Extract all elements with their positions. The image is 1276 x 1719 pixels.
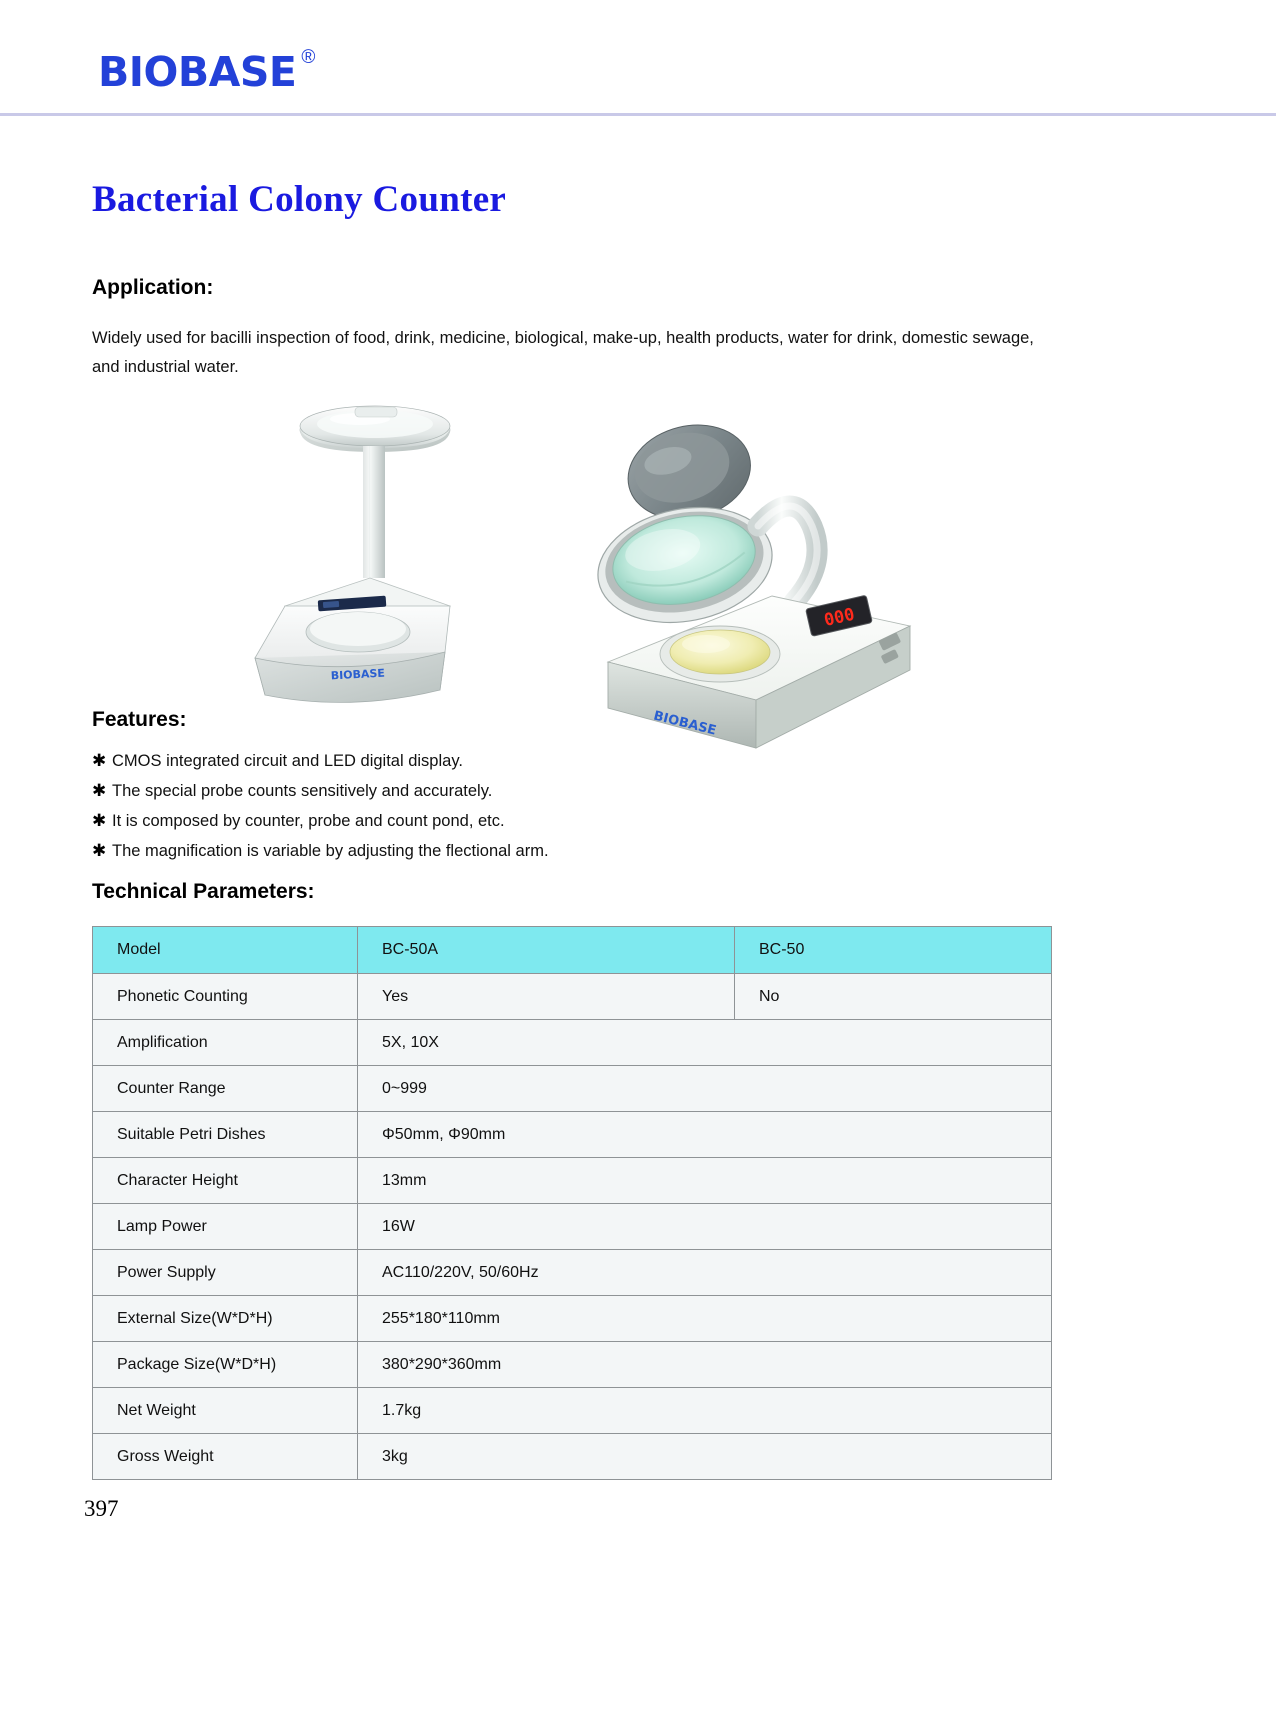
list-item: ✱ CMOS integrated circuit and LED digita… bbox=[92, 752, 792, 782]
row-label: Suitable Petri Dishes bbox=[93, 1112, 358, 1158]
feature-text: It is composed by counter, probe and cou… bbox=[112, 812, 505, 831]
product-photo-right: 000 BIOBASE bbox=[588, 412, 910, 748]
table-header-cell-model: Model bbox=[93, 927, 358, 974]
row-value: 3kg bbox=[358, 1434, 1052, 1480]
asterisk-bullet-icon: ✱ bbox=[92, 752, 112, 769]
asterisk-bullet-icon: ✱ bbox=[92, 842, 112, 859]
section-heading-technical: Technical Parameters: bbox=[92, 880, 315, 904]
logo-wordmark: BIOBASE bbox=[98, 52, 296, 93]
row-label: Package Size(W*D*H) bbox=[93, 1342, 358, 1388]
row-label: Lamp Power bbox=[93, 1204, 358, 1250]
table-row: Lamp Power 16W bbox=[93, 1204, 1052, 1250]
section-heading-application: Application: bbox=[92, 276, 213, 300]
product-photo-left: BIOBASE bbox=[255, 406, 450, 702]
row-label: Gross Weight bbox=[93, 1434, 358, 1480]
table-header-cell-bc50a: BC-50A bbox=[358, 927, 735, 974]
table-row: Phonetic Counting Yes No bbox=[93, 974, 1052, 1020]
page-number: 397 bbox=[84, 1496, 119, 1522]
row-value-bc50a: Yes bbox=[358, 974, 735, 1020]
table-header-row: Model BC-50A BC-50 bbox=[93, 927, 1052, 974]
row-label: Net Weight bbox=[93, 1388, 358, 1434]
page-title: Bacterial Colony Counter bbox=[92, 178, 506, 221]
product-photo-group: BIOBASE bbox=[250, 400, 950, 780]
row-label: Phonetic Counting bbox=[93, 974, 358, 1020]
row-value: 5X, 10X bbox=[358, 1020, 1052, 1066]
page-header: BIOBASE ® bbox=[0, 0, 1276, 118]
row-value: Φ50mm, Φ90mm bbox=[358, 1112, 1052, 1158]
table-row: Package Size(W*D*H) 380*290*360mm bbox=[93, 1342, 1052, 1388]
table-row: External Size(W*D*H) 255*180*110mm bbox=[93, 1296, 1052, 1342]
registered-trademark-icon: ® bbox=[301, 48, 315, 67]
row-value: AC110/220V, 50/60Hz bbox=[358, 1250, 1052, 1296]
features-list: ✱ CMOS integrated circuit and LED digita… bbox=[92, 752, 792, 872]
row-label: Amplification bbox=[93, 1020, 358, 1066]
table-row: Suitable Petri Dishes Φ50mm, Φ90mm bbox=[93, 1112, 1052, 1158]
header-divider bbox=[0, 113, 1276, 116]
table-header-cell-bc50: BC-50 bbox=[735, 927, 1052, 974]
list-item: ✱ The special probe counts sensitively a… bbox=[92, 782, 792, 812]
specifications-table: Model BC-50A BC-50 Phonetic Counting Yes… bbox=[92, 926, 1052, 1480]
product-photos-svg: BIOBASE bbox=[250, 400, 950, 780]
row-value: 380*290*360mm bbox=[358, 1342, 1052, 1388]
row-value: 1.7kg bbox=[358, 1388, 1052, 1434]
row-label: Counter Range bbox=[93, 1066, 358, 1112]
list-item: ✱ It is composed by counter, probe and c… bbox=[92, 812, 792, 842]
feature-text: The special probe counts sensitively and… bbox=[112, 782, 492, 801]
row-value: 13mm bbox=[358, 1158, 1052, 1204]
biobase-logo: BIOBASE ® bbox=[98, 52, 315, 93]
table-row: Amplification 5X, 10X bbox=[93, 1020, 1052, 1066]
row-label: External Size(W*D*H) bbox=[93, 1296, 358, 1342]
row-value-bc50: No bbox=[735, 974, 1052, 1020]
table-row: Power Supply AC110/220V, 50/60Hz bbox=[93, 1250, 1052, 1296]
row-label: Character Height bbox=[93, 1158, 358, 1204]
row-value: 255*180*110mm bbox=[358, 1296, 1052, 1342]
section-heading-features: Features: bbox=[92, 708, 187, 732]
row-value: 0~999 bbox=[358, 1066, 1052, 1112]
feature-text: The magnification is variable by adjusti… bbox=[112, 842, 549, 861]
table-row: Counter Range 0~999 bbox=[93, 1066, 1052, 1112]
table-row: Gross Weight 3kg bbox=[93, 1434, 1052, 1480]
list-item: ✱ The magnification is variable by adjus… bbox=[92, 842, 792, 872]
row-label: Power Supply bbox=[93, 1250, 358, 1296]
application-paragraph: Widely used for bacilli inspection of fo… bbox=[92, 324, 1042, 382]
feature-text: CMOS integrated circuit and LED digital … bbox=[112, 752, 463, 771]
table-row: Net Weight 1.7kg bbox=[93, 1388, 1052, 1434]
row-value: 16W bbox=[358, 1204, 1052, 1250]
asterisk-bullet-icon: ✱ bbox=[92, 812, 112, 829]
asterisk-bullet-icon: ✱ bbox=[92, 782, 112, 799]
table-row: Character Height 13mm bbox=[93, 1158, 1052, 1204]
